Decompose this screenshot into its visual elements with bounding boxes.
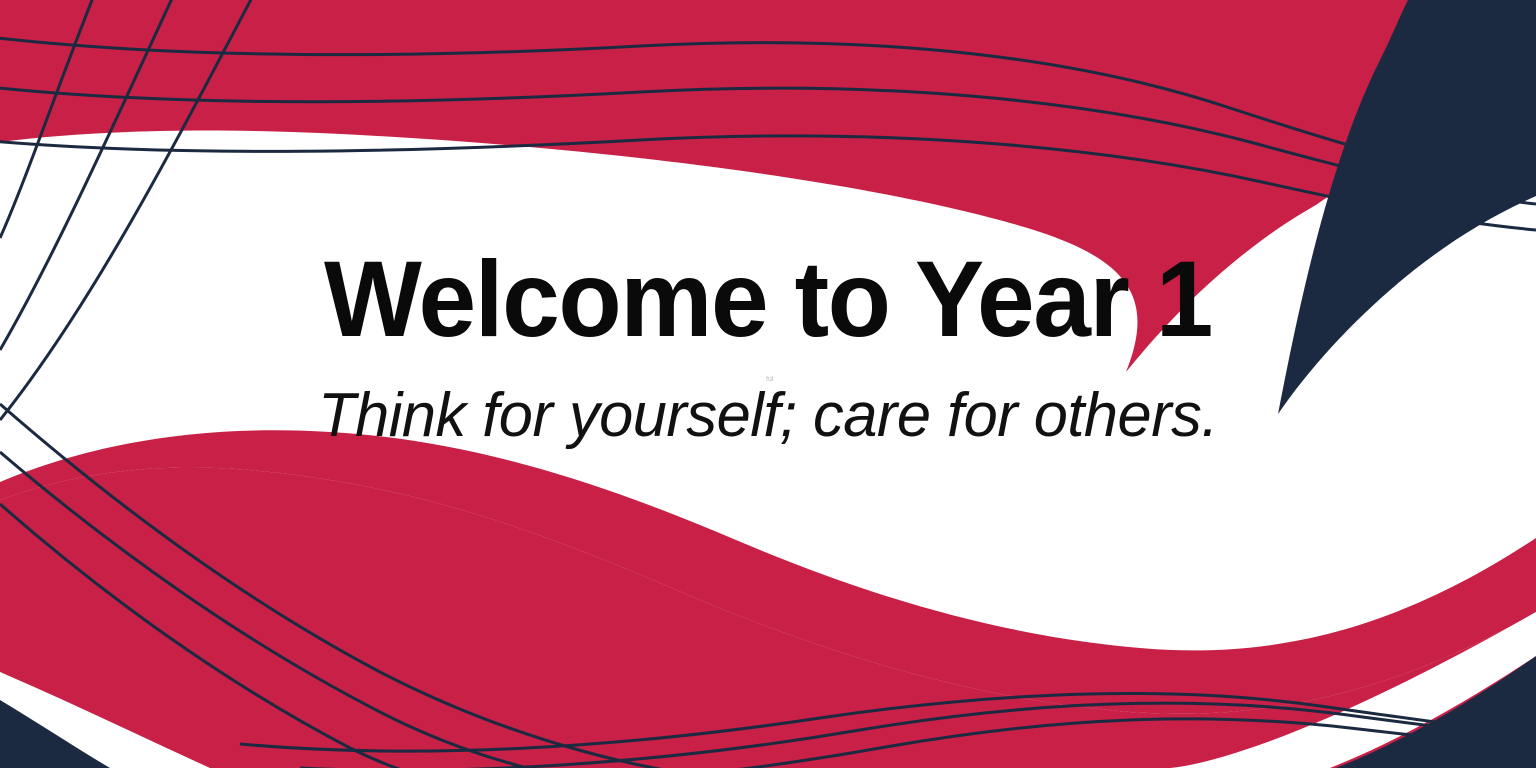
- subtitle-block: Think for yourself; care for others.: [0, 385, 1536, 447]
- title-block: Welcome to Year 1: [0, 245, 1536, 353]
- page-title: Welcome to Year 1: [31, 245, 1506, 353]
- slide-canvas: Welcome to Year 1 Think for yourself; ca…: [0, 0, 1536, 768]
- stray-artifact-text: ful: [766, 376, 776, 383]
- slide-subtitle: Think for yourself; care for others.: [8, 385, 1529, 447]
- slide-content: Welcome to Year 1 Think for yourself; ca…: [0, 0, 1536, 768]
